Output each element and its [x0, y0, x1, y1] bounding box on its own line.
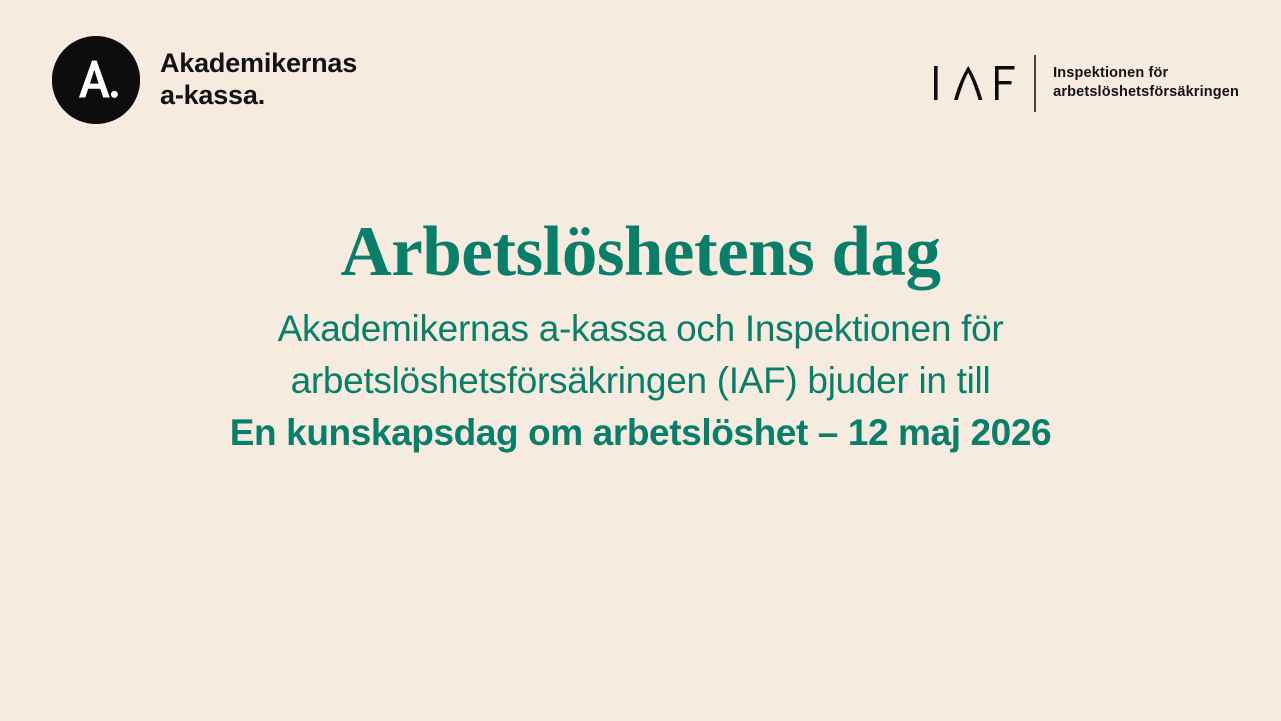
slide-header: Akademikernas a-kassa. Inspektionen för … — [0, 0, 1281, 160]
iaf-logo: Inspektionen för arbetslöshetsförsäkring… — [932, 54, 1239, 112]
subtitle-line-2: arbetslöshetsförsäkringen (IAF) bjuder i… — [0, 355, 1281, 407]
event-name-and-date: En kunskapsdag om arbetslöshet – 12 maj … — [0, 407, 1281, 459]
hero-subtitle: Akademikernas a-kassa och Inspektionen f… — [0, 303, 1281, 459]
subtitle-line-1: Akademikernas a-kassa och Inspektionen f… — [0, 303, 1281, 355]
iaf-mark-icon — [932, 62, 1034, 104]
akademikernas-wordmark: Akademikernas a-kassa. — [160, 48, 357, 112]
iaf-tagline: Inspektionen för arbetslöshetsförsäkring… — [1036, 64, 1239, 102]
hero-section: Arbetslöshetens dag Akademikernas a-kass… — [0, 214, 1281, 459]
akademikernas-a-kassa-logo: Akademikernas a-kassa. — [52, 36, 357, 124]
page-title: Arbetslöshetens dag — [0, 214, 1281, 291]
akademikernas-circle-mark-icon — [52, 36, 140, 124]
